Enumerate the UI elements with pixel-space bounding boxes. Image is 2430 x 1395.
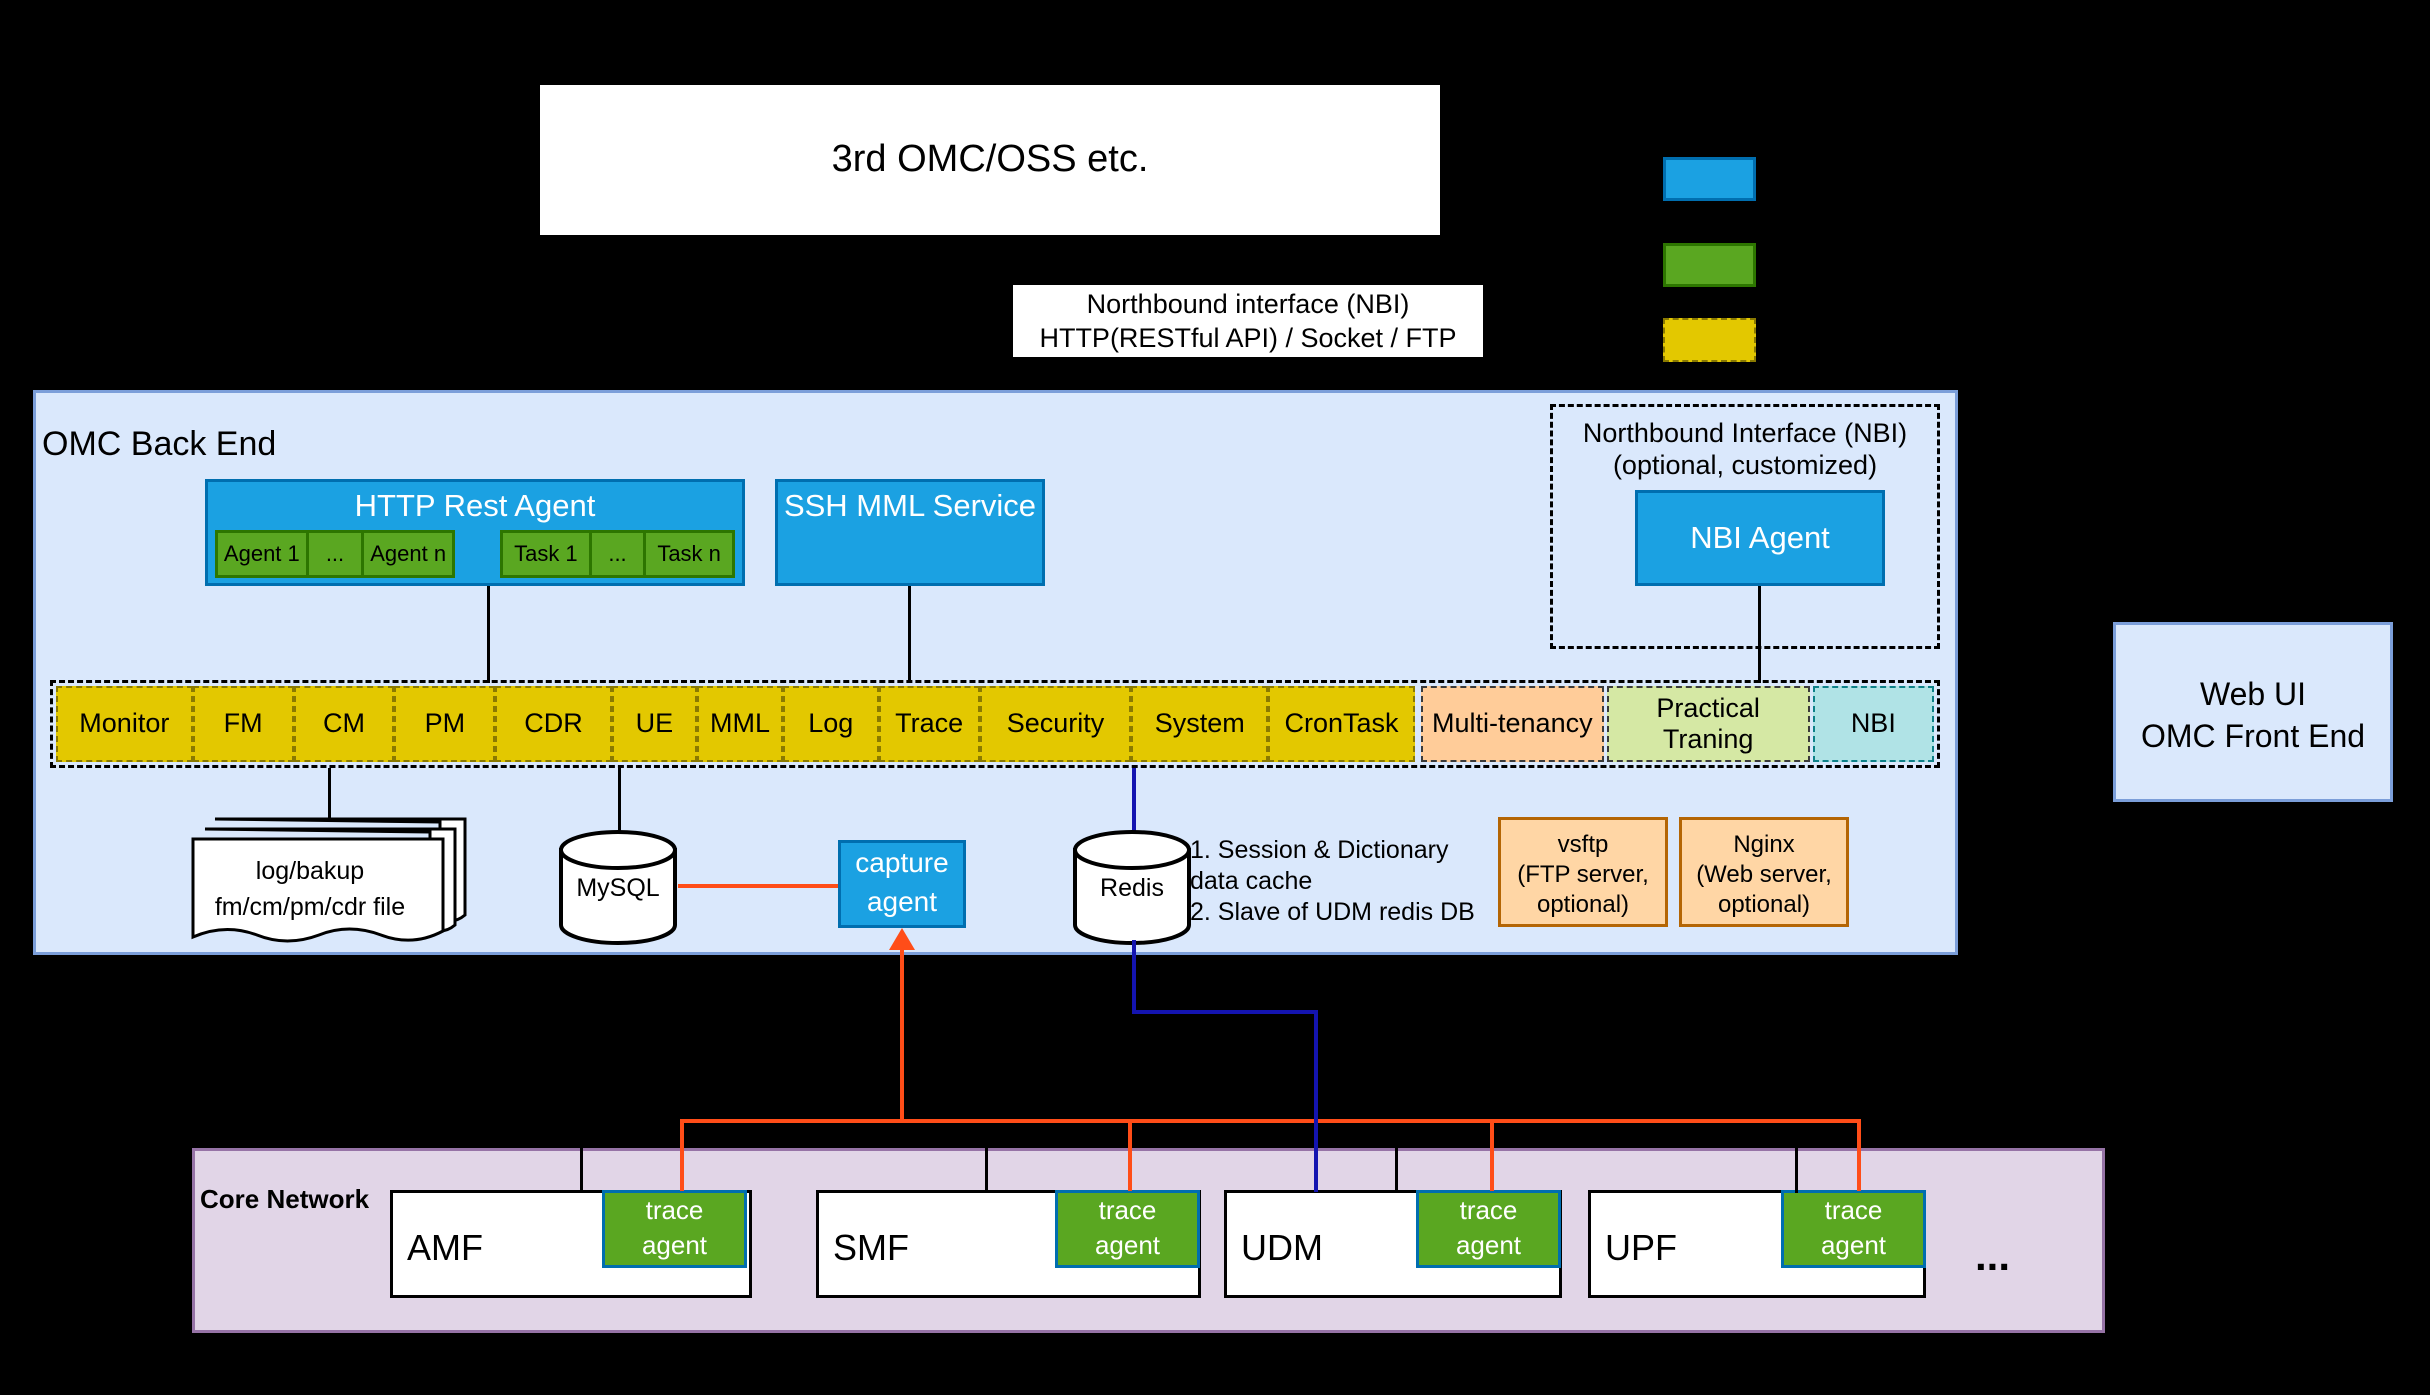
legend-yellow-swatch [1663, 318, 1756, 362]
redis-database: Redis [1071, 830, 1193, 945]
trace-agent-upf[interactable]: trace agent [1781, 1190, 1926, 1268]
redis-route-horizontal [1132, 1010, 1318, 1014]
nbi-note-line1: Northbound interface (NBI) [1014, 288, 1482, 322]
nginx-line2: (Web server, [1682, 860, 1846, 890]
trace-bus-arrowhead [889, 928, 915, 950]
core-node-label: UDM [1241, 1227, 1323, 1269]
omc-back-end-title: OMC Back End [42, 425, 276, 464]
service-item-mml[interactable]: MML [697, 686, 783, 762]
connector-services-to-redis [1132, 768, 1136, 834]
service-item-system[interactable]: System [1131, 686, 1268, 762]
web-ui-line2: OMC Front End [2116, 715, 2390, 757]
trace-agent-line2: agent [1784, 1229, 1923, 1263]
nginx-server-box: Nginx (Web server, optional) [1679, 817, 1849, 927]
agent-chip: ... [309, 530, 362, 578]
service-item-nbi[interactable]: NBI [1813, 686, 1934, 762]
service-item-pm[interactable]: PM [394, 686, 495, 762]
node-stub-upf [1795, 1148, 1798, 1193]
service-item-practical-traning[interactable]: Practical Traning [1607, 686, 1810, 762]
agent-chip[interactable]: Agent 1 [215, 530, 309, 578]
redis-note-line1: 1. Session & Dictionary [1190, 836, 1448, 865]
trace-bus-drop-smf [1128, 1119, 1132, 1191]
files-label-line1: log/bakup [185, 857, 435, 886]
nbi-panel-line1: Northbound Interface (NBI) [1550, 418, 1940, 450]
task-group: Task 1 ... Task n [500, 530, 735, 578]
service-bar: Monitor FM CM PM CDR UE MML Log Trace Se… [56, 686, 1934, 762]
trace-agent-line1: trace [1419, 1193, 1558, 1229]
log-backup-files-stack: log/bakup fm/cm/pm/cdr file [185, 805, 495, 945]
service-item-trace[interactable]: Trace [879, 686, 980, 762]
service-item-cm[interactable]: CM [294, 686, 395, 762]
mysql-database: MySQL [557, 830, 679, 945]
service-item-fm[interactable]: FM [193, 686, 294, 762]
nginx-line3: optional) [1682, 890, 1846, 920]
task-chip: ... [592, 530, 643, 578]
service-item-crontask[interactable]: CronTask [1268, 686, 1415, 762]
trace-bus-drop-amf [680, 1119, 684, 1191]
web-ui-line1: Web UI [2116, 673, 2390, 715]
redis-note-line2: data cache [1190, 867, 1312, 896]
core-network-ellipsis: ... [1975, 1232, 2010, 1280]
core-network-title: Core Network [200, 1184, 369, 1215]
service-item-ue[interactable]: UE [612, 686, 698, 762]
capture-agent-box[interactable]: capture agent [838, 840, 966, 928]
agent-chip[interactable]: Agent n [361, 530, 455, 578]
trace-agent-line2: agent [605, 1229, 744, 1263]
connector-http-rest-agent-to-services [487, 586, 490, 683]
nginx-line1: Nginx [1682, 830, 1846, 860]
files-label-line2: fm/cm/pm/cdr file [185, 893, 435, 922]
service-item-multi-tenancy[interactable]: Multi-tenancy [1421, 686, 1604, 762]
trace-agent-line2: agent [1058, 1229, 1197, 1263]
vsftp-line3: optional) [1501, 890, 1665, 920]
legend-green-swatch [1663, 243, 1756, 287]
task-chip[interactable]: Task 1 [500, 530, 592, 578]
node-stub-smf [985, 1148, 988, 1193]
trace-agent-line2: agent [1419, 1229, 1558, 1263]
agent-group: Agent 1 ... Agent n [215, 530, 455, 578]
core-node-label: UPF [1605, 1227, 1677, 1269]
trace-bus-horizontal-right [1490, 1119, 1861, 1123]
nbi-agent-box[interactable]: NBI Agent [1635, 490, 1885, 586]
capture-agent-line1: capture [841, 843, 963, 883]
nbi-note-line2: HTTP(RESTful API) / Socket / FTP [1014, 322, 1482, 356]
legend-blue-swatch [1663, 157, 1756, 201]
trace-bus-riser-to-capture-agent [900, 950, 904, 1121]
task-chip[interactable]: Task n [643, 530, 735, 578]
vsftp-line1: vsftp [1501, 830, 1665, 860]
nbi-agent-label: NBI Agent [1690, 520, 1830, 556]
connector-ssh-mml-to-services [908, 586, 911, 683]
connector-mysql-to-capture-agent [678, 884, 838, 888]
trace-bus-drop-udm [1490, 1119, 1494, 1191]
service-item-cdr[interactable]: CDR [495, 686, 611, 762]
mysql-label: MySQL [557, 874, 679, 903]
connector-services-to-mysql [618, 768, 621, 834]
connector-nbi-agent-to-services [1758, 586, 1761, 683]
ssh-mml-service-box[interactable]: SSH MML Service [775, 479, 1045, 586]
trace-agent-line1: trace [1058, 1193, 1197, 1229]
vsftp-line2: (FTP server, [1501, 860, 1665, 890]
trace-agent-udm[interactable]: trace agent [1416, 1190, 1561, 1268]
service-item-monitor[interactable]: Monitor [56, 686, 193, 762]
trace-agent-line1: trace [1784, 1193, 1923, 1229]
ssh-mml-service-title: SSH MML Service [778, 482, 1042, 530]
http-rest-agent-title: HTTP Rest Agent [208, 482, 742, 530]
nbi-protocol-note: Northbound interface (NBI) HTTP(RESTful … [1013, 285, 1483, 357]
web-ui-front-end-box[interactable]: Web UI OMC Front End [2113, 622, 2393, 802]
capture-agent-line2: agent [841, 883, 963, 921]
trace-agent-smf[interactable]: trace agent [1055, 1190, 1200, 1268]
core-node-label: AMF [407, 1227, 483, 1269]
redis-label: Redis [1071, 874, 1193, 903]
vsftp-server-box: vsftp (FTP server, optional) [1498, 817, 1668, 927]
redis-route-vertical-lower [1314, 1010, 1318, 1192]
service-item-log[interactable]: Log [783, 686, 879, 762]
node-stub-amf [580, 1148, 583, 1193]
service-item-security[interactable]: Security [980, 686, 1132, 762]
node-stub-udm [1395, 1148, 1398, 1193]
nbi-panel-line2: (optional, customized) [1550, 450, 1940, 482]
third-party-omc-oss-box: 3rd OMC/OSS etc. [540, 85, 1440, 235]
third-party-label: 3rd OMC/OSS etc. [832, 138, 1149, 182]
redis-route-vertical-upper [1132, 940, 1136, 1012]
trace-bus-horizontal [680, 1119, 1620, 1123]
redis-note-line3: 2. Slave of UDM redis DB [1190, 898, 1475, 927]
trace-agent-line1: trace [605, 1193, 744, 1229]
trace-bus-drop-upf [1857, 1119, 1861, 1191]
trace-agent-amf[interactable]: trace agent [602, 1190, 747, 1268]
core-node-label: SMF [833, 1227, 909, 1269]
